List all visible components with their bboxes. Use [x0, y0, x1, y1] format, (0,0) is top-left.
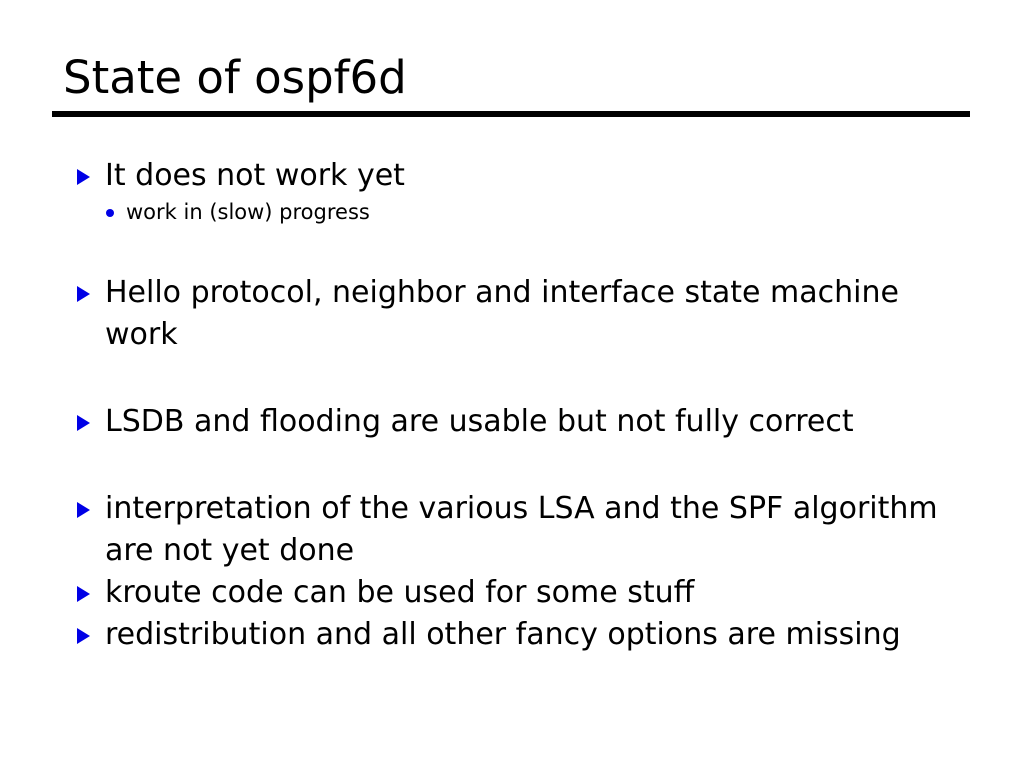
bullet-item: work in (slow) progress — [70, 197, 970, 227]
triangle-bullet-icon — [77, 415, 90, 431]
bullet-item-label: kroute code can be used for some stuff — [105, 572, 970, 614]
dot-bullet-icon — [106, 209, 114, 217]
bullet-item-label: Hello protocol, neighbor and interface s… — [105, 272, 970, 356]
bullet-spacer — [70, 227, 970, 272]
bullet-item-label: redistribution and all other fancy optio… — [105, 614, 970, 656]
bullet-spacer — [70, 443, 970, 488]
triangle-bullet-icon — [77, 628, 90, 644]
bullet-item-label: LSDB and flooding are usable but not ful… — [105, 401, 970, 443]
page-title: State of ospf6d — [63, 52, 407, 104]
triangle-bullet-icon — [77, 169, 90, 185]
triangle-bullet-icon — [77, 502, 90, 518]
slide-canvas: State of ospf6d It does not work yetwork… — [0, 0, 1024, 768]
bullet-list: It does not work yetwork in (slow) progr… — [70, 155, 970, 656]
bullet-item: redistribution and all other fancy optio… — [70, 614, 970, 656]
triangle-bullet-icon — [77, 586, 90, 602]
title-underline-rule — [52, 111, 970, 117]
bullet-item: kroute code can be used for some stuff — [70, 572, 970, 614]
bullet-item-label: work in (slow) progress — [126, 197, 970, 227]
bullet-item: It does not work yet — [70, 155, 970, 197]
bullet-item: Hello protocol, neighbor and interface s… — [70, 272, 970, 356]
bullet-spacer — [70, 356, 970, 401]
bullet-item: LSDB and flooding are usable but not ful… — [70, 401, 970, 443]
bullet-item: interpretation of the various LSA and th… — [70, 488, 970, 572]
triangle-bullet-icon — [77, 286, 90, 302]
bullet-item-label: It does not work yet — [105, 155, 970, 197]
bullet-item-label: interpretation of the various LSA and th… — [105, 488, 970, 572]
